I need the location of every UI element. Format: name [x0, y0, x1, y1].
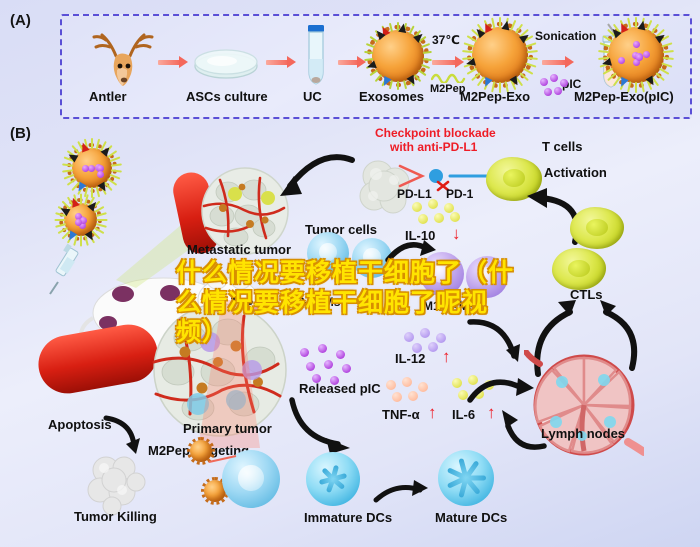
cytokine-particle — [404, 332, 414, 342]
cytokine-particle — [560, 79, 568, 87]
m1-tam-cell-b-icon — [352, 238, 392, 278]
cytokine-particle — [342, 364, 351, 373]
arrow-dc-maturation — [374, 478, 432, 508]
injected-exosome-2-icon — [64, 203, 97, 236]
cytokine-particle — [450, 212, 460, 222]
cytokine-particle — [408, 391, 418, 401]
t-cell-icon — [486, 157, 542, 201]
cytokine-particle — [386, 380, 396, 390]
label-activation: Activation — [544, 166, 607, 179]
primary-tumor-icon — [140, 300, 300, 440]
pic-loaded-exosome-icon — [608, 27, 664, 83]
label-released-pic: Released pIC — [299, 382, 381, 395]
cytokine-particle — [434, 213, 444, 223]
process-arrow-3 — [338, 58, 366, 67]
figure-canvas: (A) Antler ASCs culture — [0, 0, 700, 547]
label-pd-l1: PD-L1 — [397, 188, 432, 200]
panel-a-step-label-uc: UC — [303, 90, 322, 103]
label-mature-dcs: Mature DCs — [435, 511, 507, 524]
label-pd-1: PD-1 — [446, 188, 473, 200]
ctl-cell-1-icon — [570, 207, 624, 249]
label-il-6: IL-6 — [452, 408, 475, 421]
panel-a-step-label-exosomes: Exosomes — [359, 90, 424, 103]
label-metastatic-tumor: Metastatic tumor — [187, 243, 291, 256]
cytokine-particle — [544, 88, 552, 96]
label-il-12-up-arrow: ↑ — [442, 348, 451, 365]
surface-spike — [54, 219, 65, 221]
cytokine-particle — [392, 392, 402, 402]
cytokine-particle — [540, 78, 548, 86]
surface-spike — [462, 50, 473, 53]
membrane-protein — [398, 23, 407, 33]
label-checkpoint-line1: Checkpoint blockade — [375, 127, 496, 139]
targeting-exosome-1-icon — [190, 440, 212, 462]
cytokine-particle — [458, 390, 468, 400]
exosome-icon — [372, 30, 424, 82]
cytokine-particle — [402, 377, 412, 387]
panel-b-tag: (B) — [10, 125, 31, 142]
arrow-cytokine-to-lymph — [466, 320, 532, 364]
panel-a-step-label-antler: Antler — [89, 90, 127, 103]
process-arrow-1 — [158, 58, 188, 67]
cytokine-particle — [550, 74, 558, 82]
cytokine-particle — [428, 199, 438, 209]
surface-spike — [96, 219, 107, 221]
cytokine-particle — [324, 360, 333, 369]
label-lymph-nodes: Lymph nodes — [541, 427, 625, 440]
petri-dish-icon — [192, 44, 260, 84]
m2-tam-cell-a-icon — [420, 252, 464, 296]
m2-tam-cell-b-icon — [466, 256, 508, 298]
cytokine-particle — [474, 389, 484, 399]
label-primary-tumor: Primary tumor — [183, 422, 272, 435]
immature-dc-icon — [306, 452, 360, 506]
centrifuge-tube-icon — [302, 25, 330, 87]
process-arrow-5 — [542, 58, 574, 67]
cytokine-particle — [420, 328, 430, 338]
cytokine-particle — [318, 344, 327, 353]
cytokine-particle — [300, 348, 309, 357]
label-m1-tams: M1-TAMs — [423, 300, 475, 312]
cytokine-particle — [428, 342, 438, 352]
cytokine-particle — [336, 350, 345, 359]
target-macrophage-icon — [222, 450, 280, 508]
temperature-annotation: 37℃ — [432, 34, 460, 46]
label-immature-dcs: Immature DCs — [304, 511, 392, 524]
cytokine-particle — [418, 214, 428, 224]
label-tnf-alpha: TNF-α — [382, 408, 420, 421]
cytokine-particle — [554, 87, 562, 95]
process-arrow-4 — [432, 58, 464, 67]
panel-a-container: Antler ASCs culture UC Exosome — [60, 14, 692, 119]
lymph-node-icon — [524, 350, 644, 460]
m1-tam-cell-a-icon — [307, 232, 349, 274]
cytokine-particle — [436, 333, 446, 343]
injected-exosome-1-icon — [72, 148, 112, 188]
m2pep-exosome-icon — [472, 27, 528, 83]
label-tnf-alpha-up-arrow: ↑ — [428, 404, 437, 421]
cytokine-particle — [418, 382, 428, 392]
cytokine-particle — [484, 380, 494, 390]
panel-a-step-label-ascs: ASCs culture — [186, 90, 268, 103]
cytokine-particle — [468, 375, 478, 385]
label-ctls: CTLs — [570, 288, 603, 301]
label-il-10-down-arrow: ↓ — [452, 225, 461, 242]
panel-a-step-label-m2pep-exo-pic: M2Pep-Exo(pIC) — [574, 90, 674, 103]
panel-a-step-label-m2pep-exo: M2Pep-Exo — [460, 90, 530, 103]
deer-icon — [86, 26, 158, 98]
pic-cargo-particle — [643, 51, 650, 58]
label-t-cells: T cells — [542, 140, 582, 153]
panel-a-tag: (A) — [10, 12, 31, 29]
apoptotic-body-icon — [78, 448, 156, 518]
surface-spike — [80, 235, 82, 246]
mature-dc-icon — [438, 450, 494, 506]
surface-spike — [91, 138, 93, 149]
surface-spike — [80, 193, 82, 204]
pic-cargo-particle — [633, 41, 640, 48]
cytokine-particle — [412, 202, 422, 212]
sonication-annotation: Sonication — [535, 30, 596, 42]
surface-spike — [635, 17, 637, 28]
label-il-10: IL-10 — [405, 229, 435, 242]
pic-cargo-particle — [75, 219, 82, 226]
label-il-6-up-arrow: ↑ — [487, 404, 496, 421]
surface-spike — [499, 17, 501, 28]
pic-cargo-particle — [636, 54, 643, 61]
label-apoptosis: Apoptosis — [48, 418, 112, 431]
cytokine-particle — [306, 362, 315, 371]
ctl-cell-2-icon — [552, 248, 606, 290]
label-checkpoint-line2: with anti-PD-L1 — [390, 141, 477, 153]
surface-spike — [364, 51, 373, 54]
process-arrow-2 — [266, 58, 296, 67]
cytokine-particle — [452, 378, 462, 388]
label-tumor-cells: Tumor cells — [305, 223, 377, 236]
label-il-12: IL-12 — [395, 352, 425, 365]
m2pep-squiggle-icon — [431, 71, 467, 83]
label-tumor-killing: Tumor Killing — [74, 510, 157, 523]
